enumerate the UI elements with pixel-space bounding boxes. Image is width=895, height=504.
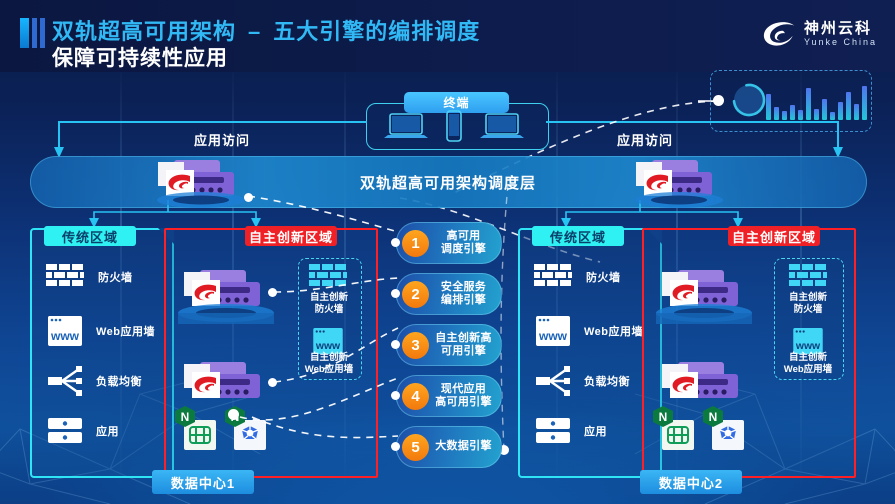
- nginx-mesh-icon: N: [652, 404, 696, 452]
- service-label: 应用: [96, 423, 119, 439]
- bar: [862, 86, 867, 120]
- svg-text:N: N: [709, 410, 718, 424]
- caption-line1: 自主创新: [768, 352, 848, 364]
- engine-pill-5[interactable]: 5大数据引擎: [396, 426, 502, 468]
- bar: [846, 92, 851, 120]
- engine-connector-dot: [391, 340, 400, 349]
- access-label-left: 应用访问: [194, 130, 250, 149]
- load-balancer-icon: [48, 366, 82, 396]
- datacenter-label-2: 数据中心2: [640, 470, 742, 494]
- innovation-waf-caption-dc2: 自主创新 Web应用墙: [768, 352, 848, 376]
- web-www-icon: www: [48, 316, 82, 346]
- bar: [766, 94, 771, 120]
- nginx-k8s-icon: N: [702, 404, 746, 452]
- engine-connector-dot: [391, 391, 400, 400]
- logo-name-cn: 神州云科: [804, 21, 877, 38]
- page-title-dash: –: [236, 19, 273, 44]
- service-label: Web应用墙: [96, 323, 155, 339]
- engine-label: 大数据引擎: [429, 440, 501, 453]
- engine-number: 2: [402, 281, 429, 308]
- page-subtitle: 保障可持续性应用: [52, 42, 228, 72]
- svg-text:N: N: [181, 410, 190, 424]
- engine-number: 5: [402, 434, 429, 461]
- pedestal-icon: [155, 192, 247, 214]
- service-row-firewall-dc1: 防火墙: [46, 264, 133, 290]
- engine-number: 1: [402, 230, 429, 257]
- engine-number: 4: [402, 383, 429, 410]
- engine-pill-4[interactable]: 4现代应用高可用引擎: [396, 375, 502, 417]
- brand-logo: 神州云科 Yunke China: [762, 20, 877, 50]
- innovation-firewall-caption-dc2: 自主创新 防火墙: [768, 292, 848, 316]
- caption-line2: 防火墙: [768, 304, 848, 316]
- engine-pill-2[interactable]: 2安全服务编排引擎: [396, 273, 502, 315]
- node-dot: [228, 409, 239, 420]
- nginx-mesh-icon: N: [174, 404, 218, 452]
- firewall-brick-icon: [46, 264, 84, 290]
- header-accent-bars-icon: [20, 18, 45, 48]
- firewall-brick-icon: [786, 264, 830, 290]
- service-row-app-dc1: 应用: [48, 418, 119, 444]
- engine-label: 自主创新高可用引擎: [429, 332, 501, 358]
- engine-connector-dot: [391, 238, 400, 247]
- bar: [806, 88, 811, 120]
- appliance-icon: [656, 358, 752, 410]
- engine-pill-3[interactable]: 3自主创新高可用引擎: [396, 324, 502, 366]
- caption-line1: 自主创新: [768, 292, 848, 304]
- page-header: 双轨超高可用架构–五大引擎的编排调度 保障可持续性应用 神州云科 Yunke C…: [0, 0, 895, 72]
- engine-label: 现代应用高可用引擎: [429, 383, 501, 409]
- service-row-lb-dc1: 负载均衡: [48, 366, 142, 396]
- svg-text:N: N: [659, 410, 668, 424]
- donut-chart-icon: [731, 82, 767, 118]
- traditional-zone-title-dc1: 传统区域: [44, 226, 136, 246]
- engine-connector-dot: [391, 289, 400, 298]
- svg-text:www: www: [795, 341, 821, 352]
- engine-connectors-dc1: [240, 180, 405, 455]
- web-www-icon: www: [793, 328, 823, 354]
- engine-connector-dot: [391, 442, 400, 451]
- service-label: 防火墙: [98, 269, 133, 285]
- page-title-part2: 五大引擎的编排调度: [273, 19, 480, 44]
- service-label: 负载均衡: [96, 373, 142, 389]
- engine-label: 高可用调度引擎: [429, 230, 501, 256]
- innovation-zone-title-dc2: 自主创新区域: [728, 226, 820, 246]
- engine-label: 安全服务编排引擎: [429, 281, 501, 307]
- architecture-diagram: 双轨超高可用架构–五大引擎的编排调度 保障可持续性应用 神州云科 Yunke C…: [0, 0, 895, 504]
- bar: [822, 99, 827, 120]
- pedestal-icon: [654, 304, 754, 330]
- logo-name-en: Yunke China: [804, 37, 877, 49]
- engine-connectors-dc2: [498, 180, 658, 455]
- service-row-waf-dc1: www Web应用墙: [48, 316, 155, 346]
- engine-pill-1[interactable]: 1高可用调度引擎: [396, 222, 502, 264]
- bar-chart-icon: [766, 84, 867, 120]
- caption-line2: Web应用墙: [768, 364, 848, 376]
- datacenter-label-1: 数据中心1: [152, 470, 254, 494]
- swirl-logo-icon: [762, 20, 796, 50]
- page-title-part1: 双轨超高可用架构: [52, 19, 236, 44]
- application-server-icon: [48, 418, 82, 444]
- svg-text:www: www: [50, 329, 80, 343]
- engine-number: 3: [402, 332, 429, 359]
